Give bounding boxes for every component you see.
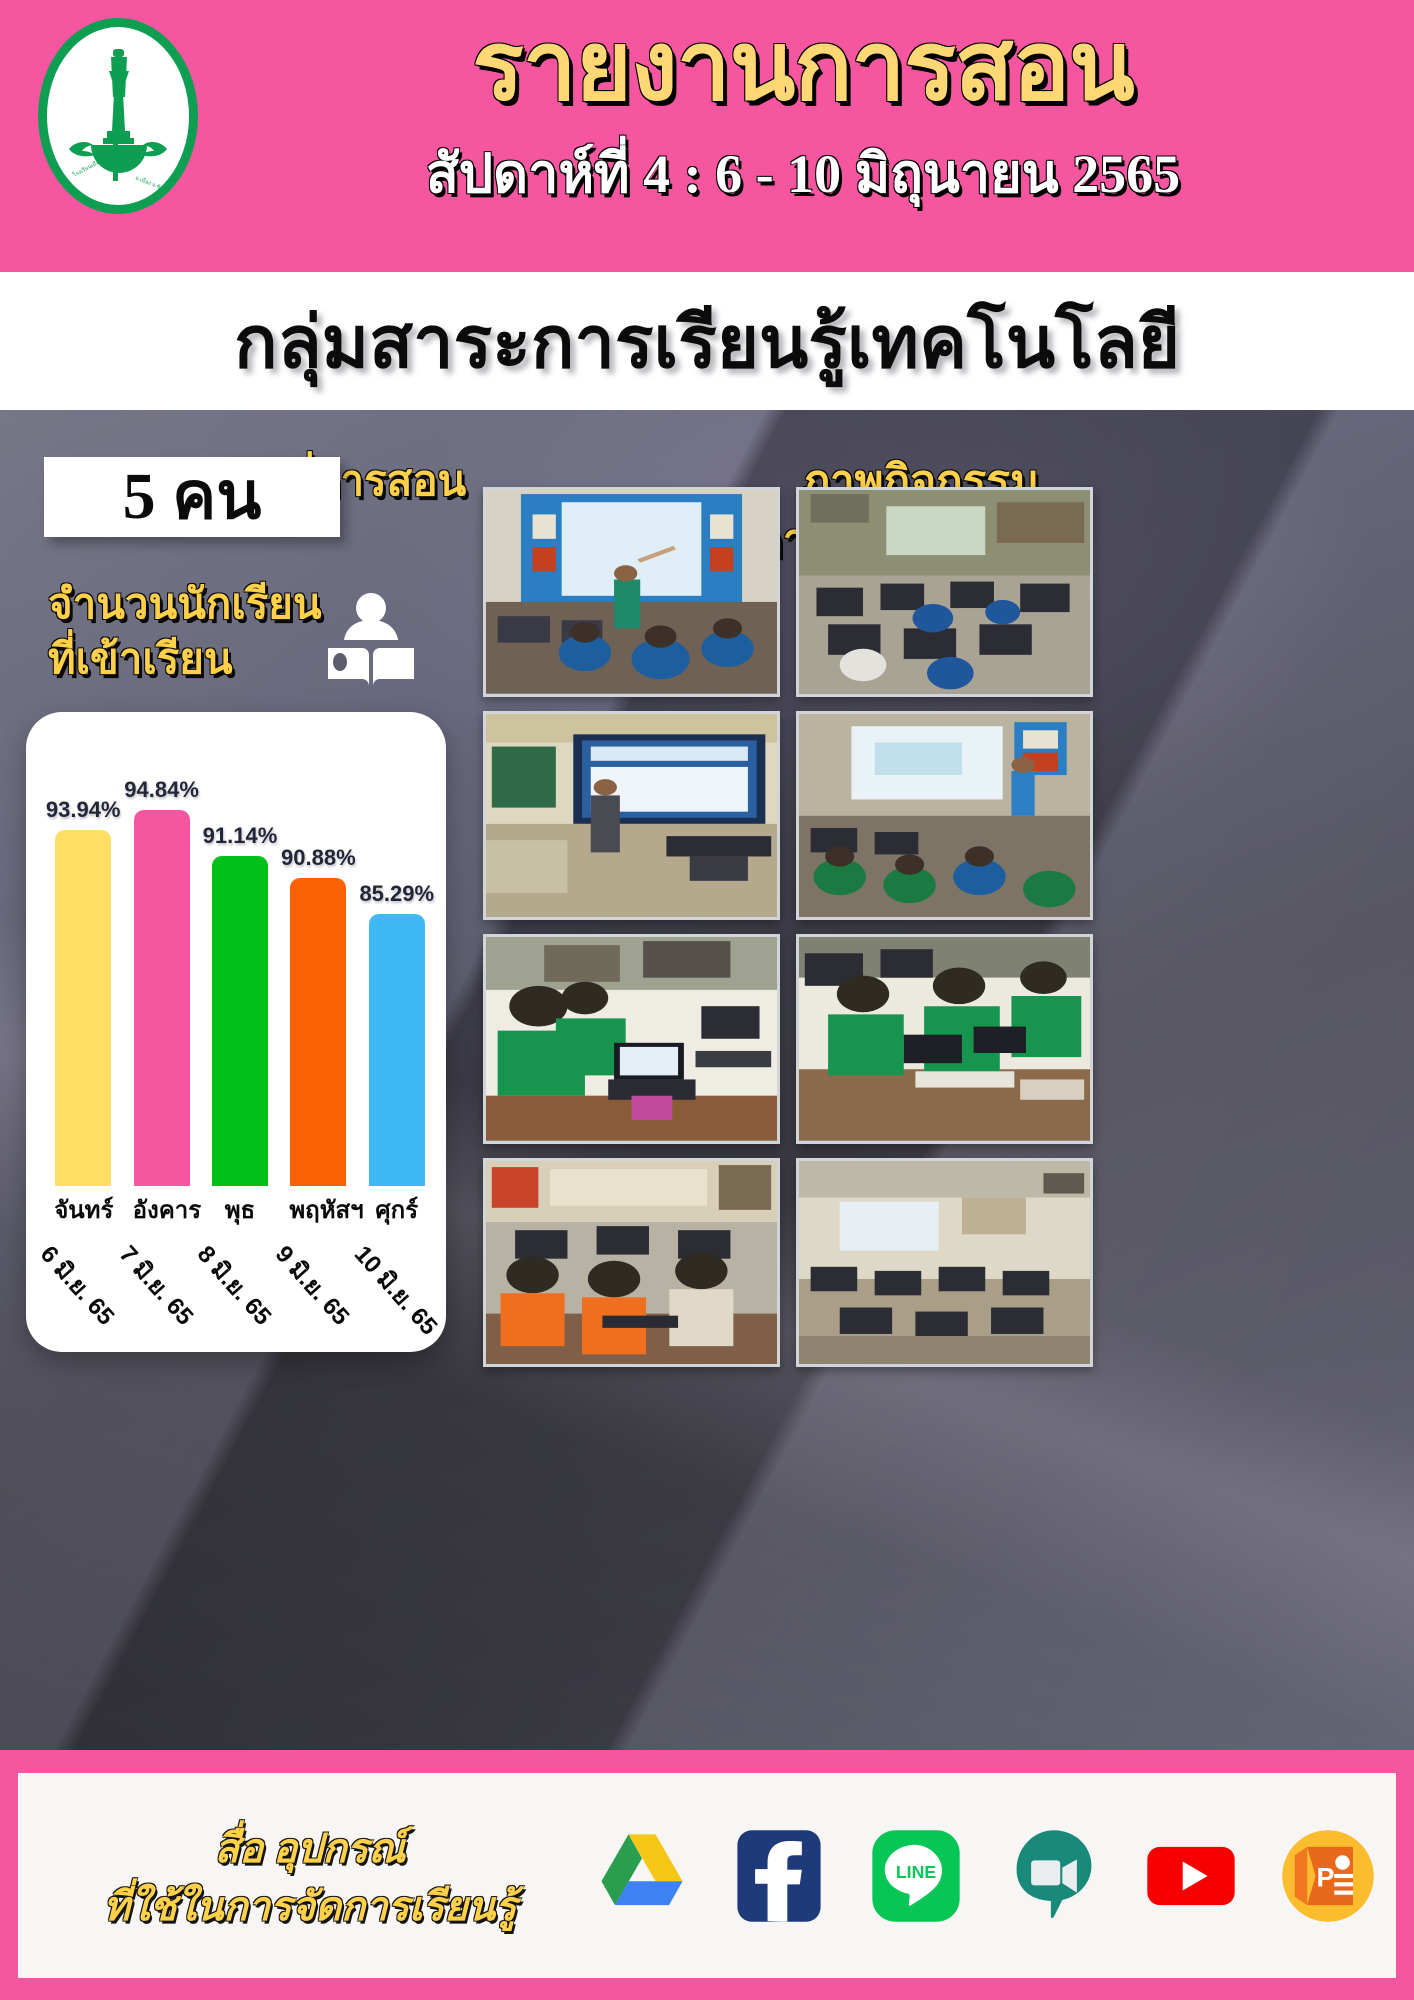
photo-computer-lab-overview[interactable] [796,487,1093,697]
youtube-icon[interactable] [1139,1824,1243,1928]
subject-band: กลุ่มสาระการเรียนรู้เทคโนโลยี [0,272,1414,410]
x-date-label: 6 มิ.ย. 65 [31,1236,125,1334]
bar-value-label: 94.84% [124,777,199,803]
x-date-label: 7 มิ.ย. 65 [110,1236,204,1334]
x-date-label: 10 มิ.ย. 65 [345,1236,446,1344]
svg-text:P: P [1316,1862,1334,1892]
footer-label-line-2: ที่ใช้ในการจัดการเรียนรู้ [30,1878,590,1936]
google-drive-icon[interactable] [590,1824,694,1928]
page-subtitle: สัปดาห์ที่ 4 : 6 - 10 มิถุนายน 2565 [228,130,1378,216]
school-crest-logo: โรงเรียนเมืองพญาแลวิทยา อ.เมือง จ.ชัยภูม… [38,18,198,214]
x-date-slot: 7 มิ.ย. 65 [133,1228,191,1338]
photo-students-orange-uniform-lab[interactable] [483,1158,780,1368]
x-date-label: 9 มิ.ย. 65 [266,1236,360,1334]
footer-label-line-1: สื่อ อุปกรณ์ [30,1820,590,1878]
bar-group-2: 91.14% [211,758,269,1186]
bar-group-3: 90.88% [289,758,347,1186]
bar-value-label: 91.14% [203,823,278,849]
header-band: โรงเรียนเมืองพญาแลวิทยา อ.เมือง จ.ชัยภูม… [0,0,1414,272]
photo-students-green-uniform-laptops[interactable] [483,934,780,1144]
attendance-bar-chart: 93.94% 94.84% 91.14% 90.88% 85.29% จันทร… [26,712,446,1352]
svg-text:อ.เมือง จ.ชัยภูมิ: อ.เมือง จ.ชัยภูมิ [134,174,171,194]
teacher-count-value: 5 คน [123,464,262,530]
x-tick-label: พฤหัสฯ [289,1190,347,1229]
teacher-count-card: 5 คน [44,457,340,537]
bar-value-label: 93.94% [46,797,121,823]
photo-students-row-computers[interactable] [796,934,1093,1144]
x-tick-label: ศุกร์ [368,1190,426,1229]
photo-teacher-at-projector-screen[interactable] [483,711,780,921]
photo-empty-computer-room[interactable] [796,1158,1093,1368]
activity-photo-grid [483,487,1093,1367]
x-tick-label: จันทร์ [54,1190,112,1229]
powerpoint-icon[interactable]: P [1276,1824,1380,1928]
page-title: รายงานการสอน [228,12,1378,122]
chart-category-axis: จันทร์ อังคาร พุธ พฤหัสฯ ศุกร์ [44,1190,436,1224]
bar-group-4: 85.29% [368,758,426,1186]
subject-title: กลุ่มสาระการเรียนรู้เทคโนโลยี [234,284,1180,399]
x-date-label: 8 มิ.ย. 65 [188,1236,282,1334]
google-meet-icon[interactable] [1002,1824,1106,1928]
student-reading-book-icon [322,588,420,690]
bar-0 [55,830,111,1186]
x-date-slot: 6 มิ.ย. 65 [54,1228,112,1338]
photo-teacher-pointing-whiteboard[interactable] [483,487,780,697]
chart-date-axis: 6 มิ.ย. 65 7 มิ.ย. 65 8 มิ.ย. 65 9 มิ.ย.… [44,1228,436,1338]
facebook-icon[interactable] [727,1824,831,1928]
bar-4 [369,914,425,1186]
footer-tool-icons: LINE P [590,1812,1380,1940]
footer-media-label: สื่อ อุปกรณ์ ที่ใช้ในการจัดการเรียนรู้ [30,1820,590,1936]
x-date-slot: 9 มิ.ย. 65 [289,1228,347,1338]
bar-2 [212,856,268,1186]
bar-value-label: 90.88% [281,845,356,871]
bar-group-0: 93.94% [54,758,112,1186]
bar-group-1: 94.84% [133,758,191,1186]
line-icon[interactable]: LINE [864,1824,968,1928]
bar-value-label: 85.29% [359,881,434,907]
svg-text:LINE: LINE [896,1862,936,1882]
x-tick-label: อังคาร [133,1190,191,1229]
photo-teacher-presenting-smartboard[interactable] [796,711,1093,921]
x-date-slot: 10 มิ.ย. 65 [368,1228,426,1338]
chart-plot-area: 93.94% 94.84% 91.14% 90.88% 85.29% [44,758,436,1186]
poster-root: โรงเรียนเมืองพญาแลวิทยา อ.เมือง จ.ชัยภูม… [0,0,1414,2000]
bar-3 [290,878,346,1186]
x-tick-label: พุธ [211,1190,269,1229]
bar-1 [134,810,190,1186]
x-date-slot: 8 มิ.ย. 65 [211,1228,269,1338]
